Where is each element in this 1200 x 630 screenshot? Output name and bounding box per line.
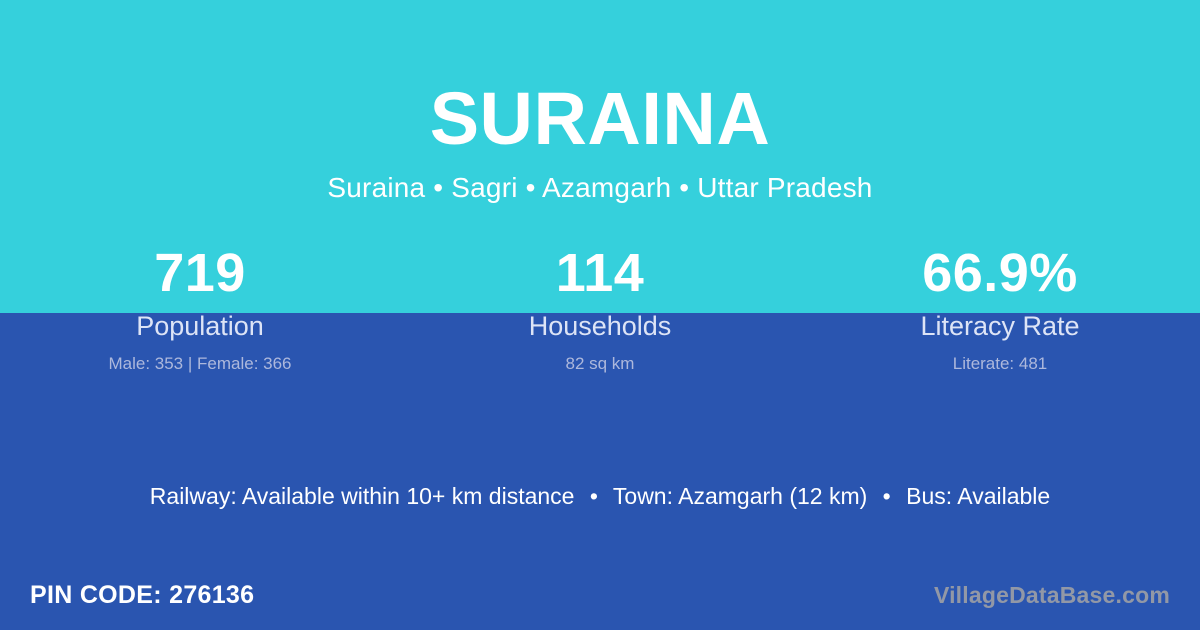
stat-sublabel: 82 sq km — [400, 355, 800, 372]
stat-label: Literacy Rate — [800, 313, 1200, 340]
card-header: SURAINA Suraina • Sagri • Azamgarh • Utt… — [0, 0, 1200, 202]
site-branding: VillageDataBase.com — [934, 584, 1170, 607]
stat-value: 719 — [0, 243, 400, 303]
stat-value: 114 — [400, 243, 800, 303]
village-info-card: SURAINA Suraina • Sagri • Azamgarh • Utt… — [0, 0, 1200, 630]
stat-population: 719 Population Male: 353 | Female: 366 — [0, 243, 400, 372]
infra-separator: • — [874, 483, 900, 509]
infra-separator: • — [581, 483, 607, 509]
stat-sublabel: Male: 353 | Female: 366 — [0, 355, 400, 372]
infra-bus: Bus: Available — [906, 483, 1050, 509]
pin-code: PIN CODE: 276136 — [30, 583, 254, 608]
breadcrumb: Suraina • Sagri • Azamgarh • Uttar Prade… — [0, 156, 1200, 202]
infra-railway: Railway: Available within 10+ km distanc… — [150, 483, 575, 509]
infra-town: Town: Azamgarh (12 km) — [613, 483, 867, 509]
stat-literacy-rate: 66.9% Literacy Rate Literate: 481 — [800, 243, 1200, 372]
stat-value: 66.9% — [800, 243, 1200, 303]
page-title: SURAINA — [0, 0, 1200, 156]
stats-row: 719 Population Male: 353 | Female: 366 1… — [0, 243, 1200, 372]
stat-sublabel: Literate: 481 — [800, 355, 1200, 372]
stat-label: Households — [400, 313, 800, 340]
card-footer: PIN CODE: 276136 VillageDataBase.com — [0, 573, 1200, 618]
infrastructure-line: Railway: Available within 10+ km distanc… — [0, 485, 1200, 508]
stat-households: 114 Households 82 sq km — [400, 243, 800, 372]
stat-label: Population — [0, 313, 400, 340]
